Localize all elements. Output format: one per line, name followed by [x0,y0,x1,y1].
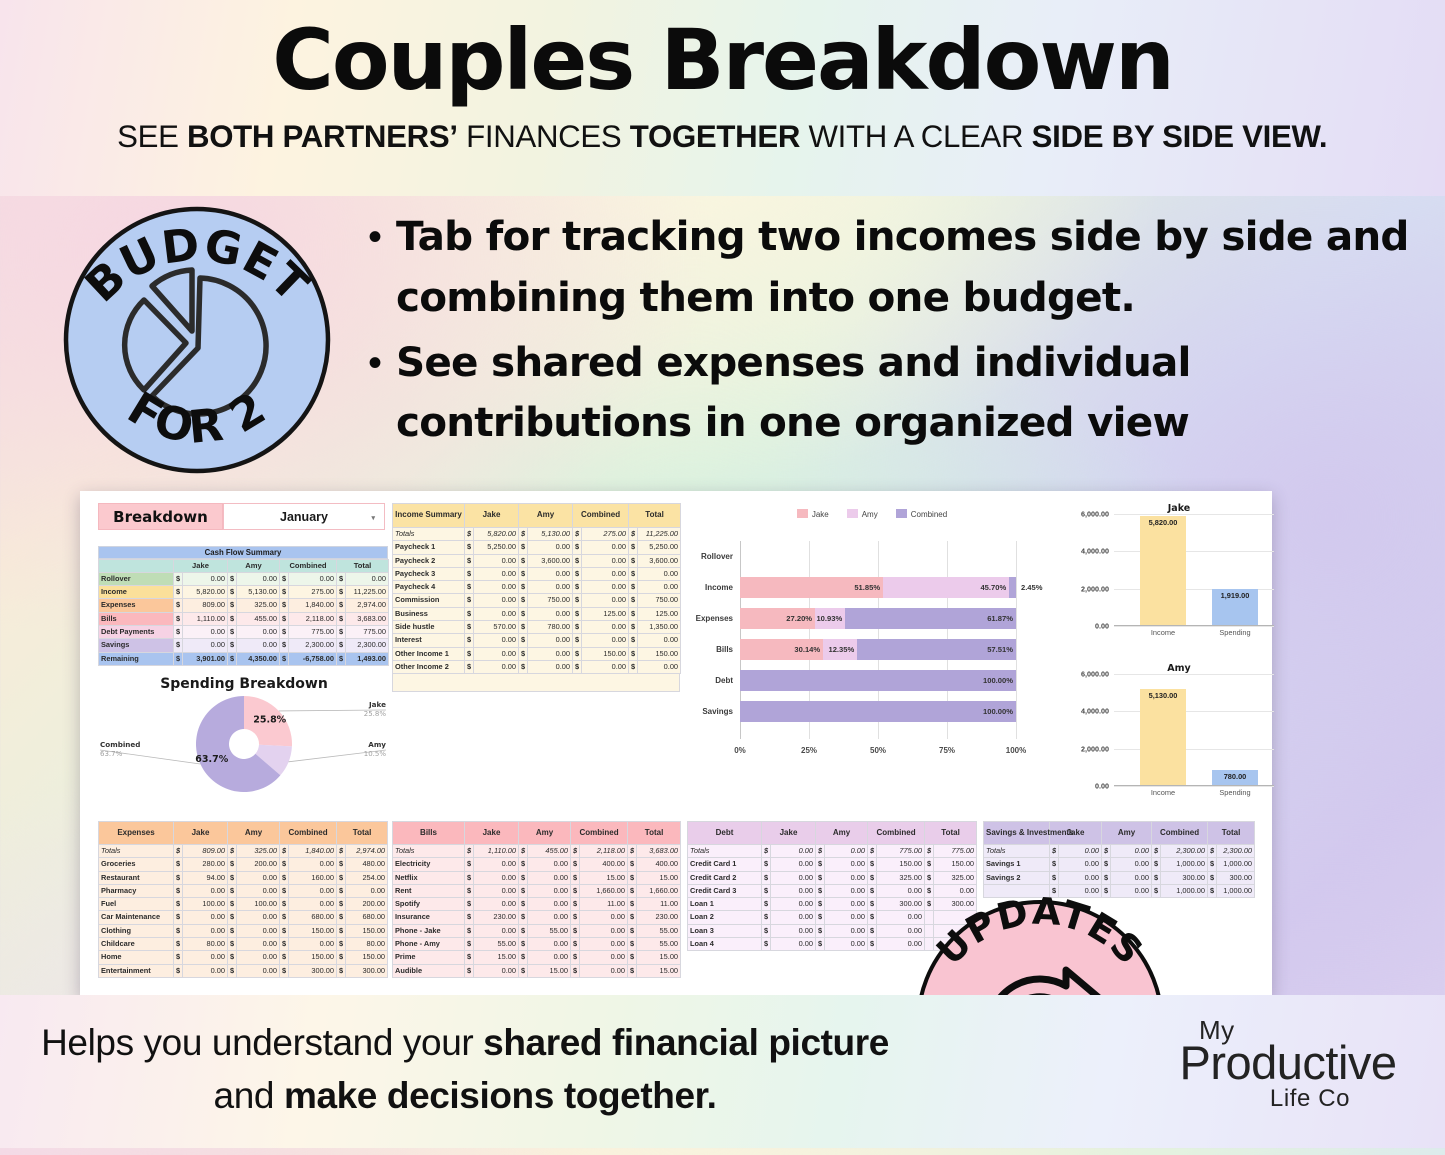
cell-value: 0.00 [528,567,573,580]
cell-value: 0.00 [771,845,816,858]
cell-value: 100.00 [237,898,280,911]
cell-value: 400.00 [637,858,681,871]
currency-symbol: $ [1102,858,1111,871]
cell-value: 809.00 [183,845,228,858]
currency-symbol: $ [174,845,183,858]
cell-value: 230.00 [637,911,681,924]
row-label: Totals [99,845,174,858]
column-header: Total [925,822,977,845]
currency-symbol: $ [628,871,637,884]
cell-value: 15.00 [528,964,571,977]
row-label: Side hustle [393,621,465,634]
bar-segment: 100.00% [740,701,1016,722]
currency-symbol: $ [868,884,877,897]
bar-segment: 10.93% [815,608,845,629]
cell-value: 775.00 [934,845,977,858]
gridline [1114,551,1274,552]
row-label: Remaining [99,652,174,665]
currency-symbol: $ [174,951,183,964]
currency-symbol: $ [465,594,474,607]
currency-symbol: $ [519,634,528,647]
cell-value: 0.00 [582,554,629,567]
row-label: Paycheck 4 [393,581,465,594]
currency-symbol: $ [519,581,528,594]
cell-value: 2,974.00 [346,845,388,858]
plain-text: FINANCES [458,118,630,154]
row-label: Netflix [393,871,465,884]
cell-value: 455.00 [528,845,571,858]
cell-value: 150.00 [934,858,977,871]
currency-symbol: $ [174,884,183,897]
category-label: Savings [702,701,733,722]
table-row: Savings 1$0.00$0.00$1,000.00$1,000.00 [984,858,1255,871]
cell-value: 0.00 [528,634,573,647]
axis-tick-label: 100% [1006,746,1026,755]
cell-value: 0.00 [474,594,519,607]
table-row: Spotify$0.00$0.00$11.00$11.00 [393,898,681,911]
table-row: Paycheck 1$5,250.00$0.00$0.00$5,250.00 [393,541,681,554]
column-header: Bills [393,822,465,845]
currency-symbol: $ [280,964,289,977]
cell-value: 5,820.00 [183,586,228,599]
cell-value: 11,225.00 [346,586,389,599]
currency-symbol: $ [174,625,183,638]
currency-symbol: $ [465,938,474,951]
currency-symbol: $ [573,607,582,620]
bar-segment: 27.20% [740,608,815,629]
currency-symbol: $ [174,652,183,665]
cell-value: 150.00 [582,647,629,660]
cell-value: 0.00 [474,554,519,567]
bar-value-label: 12.35% [828,639,854,660]
table-row: Income$5,820.00$5,130.00$275.00$11,225.0… [99,586,389,599]
cell-value: 0.00 [183,639,228,652]
currency-symbol: $ [816,884,825,897]
cell-value: 5,130.00 [528,528,573,541]
currency-symbol: $ [228,572,237,585]
currency-symbol: $ [628,858,637,871]
bar-segment: 45.70% [883,577,1009,598]
bills-table: BillsJakeAmyCombinedTotalTotals$1,110.00… [392,821,680,978]
cell-value: 0.00 [183,951,228,964]
cell-value: 5,820.00 [474,528,519,541]
bar-value-label: 61.87% [987,608,1013,629]
cell-value: 0.00 [528,660,573,673]
currency-symbol: $ [337,625,346,638]
currency-symbol: $ [519,607,528,620]
currency-symbol: $ [629,647,638,660]
callout-value: 25.8% [364,710,387,718]
emphasis-text: TOGETHER [630,118,800,154]
cell-value: 2,300.00 [346,639,389,652]
row-label: Home [99,951,174,964]
currency-symbol: $ [762,845,771,858]
currency-symbol: $ [465,924,474,937]
cell-value: 0.00 [1111,884,1152,897]
column-header: Expenses [99,822,174,845]
currency-symbol: $ [868,938,877,951]
currency-symbol: $ [280,938,289,951]
column-header: Combined [571,822,628,845]
currency-symbol: $ [465,621,474,634]
table-row: Totals$1,110.00$455.00$2,118.00$3,683.00 [393,845,681,858]
column-header: Total [628,822,681,845]
bullet-text: Tab for tracking two incomes side by sid… [396,206,1433,328]
cell-value: 0.00 [237,924,280,937]
row-label: Spotify [393,898,465,911]
row-label: Business [393,607,465,620]
gridline [1114,674,1274,675]
cell-value: 15.00 [637,951,681,964]
table-row: Insurance$230.00$0.00$0.00$230.00 [393,911,681,924]
callout-value: 63.7% [100,750,123,758]
bar-segment: 2.45% [1009,577,1016,598]
cell-value: 55.00 [637,938,681,951]
cell-value: 150.00 [877,858,925,871]
currency-symbol: $ [816,845,825,858]
legend-label: Jake [812,510,829,519]
cell-value: 1,000.00 [1217,858,1255,871]
axis-tick-label: 6,000.00 [1081,670,1109,679]
currency-symbol: $ [337,938,346,951]
cell-value: 1,840.00 [289,845,337,858]
currency-symbol: $ [280,612,289,625]
gridline [1114,514,1274,515]
currency-symbol: $ [174,612,183,625]
cell-value: 0.00 [183,911,228,924]
table-row: Totals$0.00$0.00$775.00$775.00 [688,845,977,858]
row-label: Paycheck 2 [393,554,465,567]
cell-value: 1,660.00 [580,884,628,897]
row-label: Loan 3 [688,924,762,937]
breakdown-header-bar: Breakdown January ▾ [98,503,385,530]
row-label: Totals [984,845,1050,858]
currency-symbol: $ [1208,845,1217,858]
cell-value: 0.00 [528,607,573,620]
currency-symbol: $ [573,554,582,567]
currency-symbol: $ [628,938,637,951]
cell-value: 0.00 [582,594,629,607]
currency-symbol: $ [280,625,289,638]
legend-label: Amy [862,510,878,519]
currency-symbol: $ [868,911,877,924]
bar-segment: 30.14% [740,639,823,660]
cell-value: 94.00 [183,871,228,884]
currency-symbol: $ [816,938,825,951]
cell-value: 2,300.00 [289,639,337,652]
currency-symbol: $ [1152,884,1161,897]
category-label: Bills [716,639,733,660]
currency-symbol: $ [337,911,346,924]
currency-symbol: $ [174,911,183,924]
column-header: Combined [573,504,629,528]
column-header: Jake [762,822,816,845]
cell-value: 0.00 [825,898,868,911]
cell-value: 0.00 [638,660,681,673]
row-label: Interest [393,634,465,647]
cell-value: 0.00 [825,845,868,858]
currency-symbol: $ [280,599,289,612]
gridline [1114,626,1274,627]
currency-symbol: $ [228,612,237,625]
category-label: Rollover [701,546,733,567]
column-header: Combined [868,822,925,845]
currency-symbol: $ [465,634,474,647]
table-row: Interest$0.00$0.00$0.00$0.00 [393,634,681,647]
currency-symbol: $ [762,884,771,897]
currency-symbol: $ [571,898,580,911]
currency-symbol: $ [337,964,346,977]
bar: 5,820.00 [1140,516,1186,625]
cell-value: 0.00 [289,898,337,911]
table-row: JakeAmyCombinedTotal [99,559,389,572]
currency-symbol: $ [228,884,237,897]
axis-tick-label: 0.00 [1095,782,1109,791]
column-header: Jake [174,822,228,845]
cell-value: 0.00 [582,541,629,554]
cell-value: 0.00 [825,938,868,951]
row-label: Savings 2 [984,871,1050,884]
cell-value: 5,250.00 [638,541,681,554]
cell-value: 0.00 [580,911,628,924]
cell-value: 325.00 [237,845,280,858]
currency-symbol: $ [519,554,528,567]
cell-value: 0.00 [474,924,519,937]
cell-value: 680.00 [346,911,388,924]
page-title: Couples Breakdown [272,18,1173,104]
callout-label: Combined [100,740,140,749]
cell-value: 0.00 [1059,858,1102,871]
expenses-table: ExpensesJakeAmyCombinedTotalTotals$809.0… [98,821,388,978]
cell-value: 15.00 [637,964,681,977]
currency-symbol: $ [519,938,528,951]
currency-symbol: $ [628,924,637,937]
cell-value: 0.00 [528,951,571,964]
table-row: Prime$15.00$0.00$0.00$15.00 [393,951,681,964]
cell-value: 300.00 [289,964,337,977]
currency-symbol: $ [228,639,237,652]
row-label: Paycheck 1 [393,541,465,554]
cell-value: 0.00 [237,572,280,585]
cell-value: 3,683.00 [637,845,681,858]
currency-symbol: $ [571,871,580,884]
currency-symbol: $ [465,951,474,964]
cell-value: 55.00 [474,938,519,951]
cell-value: 0.00 [474,858,519,871]
cell-value: 0.00 [825,924,868,937]
axis-category-label: Income [1140,788,1186,797]
header-band: Couples Breakdown SEE BOTH PARTNERS’ FIN… [0,0,1445,196]
plain-text: and [214,1075,284,1116]
currency-symbol: $ [816,858,825,871]
axis-tick-label: 25% [801,746,817,755]
currency-symbol: $ [174,924,183,937]
currency-symbol: $ [628,951,637,964]
axis-tick-label: 75% [939,746,955,755]
cell-value: 0.00 [582,581,629,594]
bar-value-label: 30.14% [794,639,820,660]
cell-value: 150.00 [346,951,388,964]
cell-value: 0.00 [528,911,571,924]
axis-tick-label: 6,000.00 [1081,510,1109,519]
bar-value-label: 10.93% [816,608,842,629]
spending-breakdown-chart: Spending Breakdown 25.8%63.7%Jake25.8%Am… [98,676,390,801]
table-filler [392,674,680,692]
currency-symbol: $ [174,871,183,884]
row-label: Phone - Amy [393,938,465,951]
table-row: Business$0.00$0.00$125.00$125.00 [393,607,681,620]
currency-symbol: $ [280,858,289,871]
row-label: Income [99,586,174,599]
currency-symbol: $ [571,845,580,858]
currency-symbol: $ [228,652,237,665]
row-label: Clothing [99,924,174,937]
jake-income-spending-chart: Jake 0.002,000.004,000.006,000.005,820.0… [1070,503,1288,655]
currency-symbol: $ [571,924,580,937]
currency-symbol: $ [174,639,183,652]
currency-symbol: $ [629,581,638,594]
cell-value: 0.00 [582,660,629,673]
currency-symbol: $ [629,621,638,634]
column-header [99,559,174,572]
brand-logo: My Productive Life Co [1153,1017,1423,1113]
currency-symbol: $ [465,858,474,871]
cell-value: 160.00 [289,871,337,884]
cell-value: 150.00 [289,951,337,964]
cell-value: 0.00 [474,634,519,647]
table-row: Rollover$0.00$0.00$0.00$0.00 [99,572,389,585]
cell-value: 570.00 [474,621,519,634]
currency-symbol: $ [519,858,528,871]
currency-symbol: $ [519,660,528,673]
plain-text: Helps you understand your [41,1022,483,1063]
cell-value: 300.00 [1217,871,1255,884]
row-label: Savings 1 [984,858,1050,871]
currency-symbol: $ [337,884,346,897]
cell-value: 150.00 [346,924,388,937]
bar-value-label: 5,820.00 [1140,518,1186,527]
bar-value-label: 780.00 [1212,772,1258,781]
cell-value: -6,758.00 [289,652,337,665]
cell-value: 0.00 [237,871,280,884]
table-row: Paycheck 3$0.00$0.00$0.00$0.00 [393,567,681,580]
currency-symbol: $ [1152,871,1161,884]
bar-row: Bills30.14%12.35%57.51% [740,639,1016,660]
cell-value: 0.00 [1059,845,1102,858]
currency-symbol: $ [465,647,474,660]
cell-value: 0.00 [1111,871,1152,884]
cell-value: 0.00 [346,884,388,897]
cell-value: 125.00 [638,607,681,620]
month-dropdown[interactable]: January ▾ [223,503,385,530]
cell-value: 750.00 [638,594,681,607]
currency-symbol: $ [629,528,638,541]
currency-symbol: $ [228,858,237,871]
cell-value: 0.00 [474,660,519,673]
cell-value: 2,974.00 [346,599,389,612]
bar-value-label: 45.70% [980,577,1006,598]
cell-value: 150.00 [638,647,681,660]
legend-item: Combined [896,509,947,519]
cell-value: 0.00 [582,621,629,634]
currency-symbol: $ [228,845,237,858]
currency-symbol: $ [280,911,289,924]
cell-value: 0.00 [183,572,228,585]
table-row: Other Income 1$0.00$0.00$150.00$150.00 [393,647,681,660]
cell-value: 775.00 [346,625,389,638]
cell-value: 275.00 [582,528,629,541]
cell-value: 230.00 [474,911,519,924]
cell-value: 780.00 [528,621,573,634]
cell-value: 300.00 [1161,871,1208,884]
cell-value: 0.00 [825,858,868,871]
row-label: Paycheck 3 [393,567,465,580]
cell-value: 300.00 [346,964,388,977]
cell-value: 2,118.00 [580,845,628,858]
row-label: Groceries [99,858,174,871]
column-header: Savings & Investments [984,822,1050,845]
cell-value: 0.00 [825,911,868,924]
table-row: Other Income 2$0.00$0.00$0.00$0.00 [393,660,681,673]
cell-value: 0.00 [237,911,280,924]
cell-value: 400.00 [580,858,628,871]
cell-value: 0.00 [771,898,816,911]
axis-tick-label: 4,000.00 [1081,547,1109,556]
currency-symbol: $ [519,567,528,580]
currency-symbol: $ [762,871,771,884]
currency-symbol: $ [573,634,582,647]
cell-value: 0.00 [528,858,571,871]
currency-symbol: $ [1050,871,1059,884]
footer-band: Helps you understand your shared financi… [0,995,1445,1148]
bar-row: Debt0.00%0.00%100.00% [740,670,1016,691]
currency-symbol: $ [519,845,528,858]
currency-symbol: $ [519,528,528,541]
currency-symbol: $ [1208,871,1217,884]
currency-symbol: $ [925,884,934,897]
currency-symbol: $ [816,871,825,884]
cell-value: 0.00 [289,858,337,871]
row-label: Credit Card 3 [688,884,762,897]
row-label: Fuel [99,898,174,911]
cell-value: 275.00 [289,586,337,599]
bar-value-label: 57.51% [987,639,1013,660]
cell-value: 15.00 [474,951,519,964]
slice-value-label: 25.8% [253,715,286,726]
table-row: Savings 2$0.00$0.00$300.00$300.00 [984,871,1255,884]
cell-value: 775.00 [289,625,337,638]
column-header: Combined [280,559,337,572]
bar-row: Savings0.00%0.00%100.00% [740,701,1016,722]
emphasis-text: shared financial picture [483,1022,889,1063]
row-label: Pharmacy [99,884,174,897]
bar-segment: 51.85% [740,577,883,598]
bullet-dot-icon: • [368,332,382,394]
table-row: Electricity$0.00$0.00$400.00$400.00 [393,858,681,871]
currency-symbol: $ [280,639,289,652]
income-summary-table: Income SummaryJakeAmyCombinedTotal Total… [392,503,680,692]
axis-category-label: Spending [1212,628,1258,637]
cell-value: 0.00 [580,924,628,937]
row-label: Rollover [99,572,174,585]
legend-item: Amy [847,509,878,519]
currency-symbol: $ [629,594,638,607]
currency-symbol: $ [519,594,528,607]
cell-value: 1,000.00 [1161,858,1208,871]
currency-symbol: $ [816,924,825,937]
currency-symbol: $ [571,858,580,871]
axis-tick-label: 0.00 [1095,622,1109,631]
